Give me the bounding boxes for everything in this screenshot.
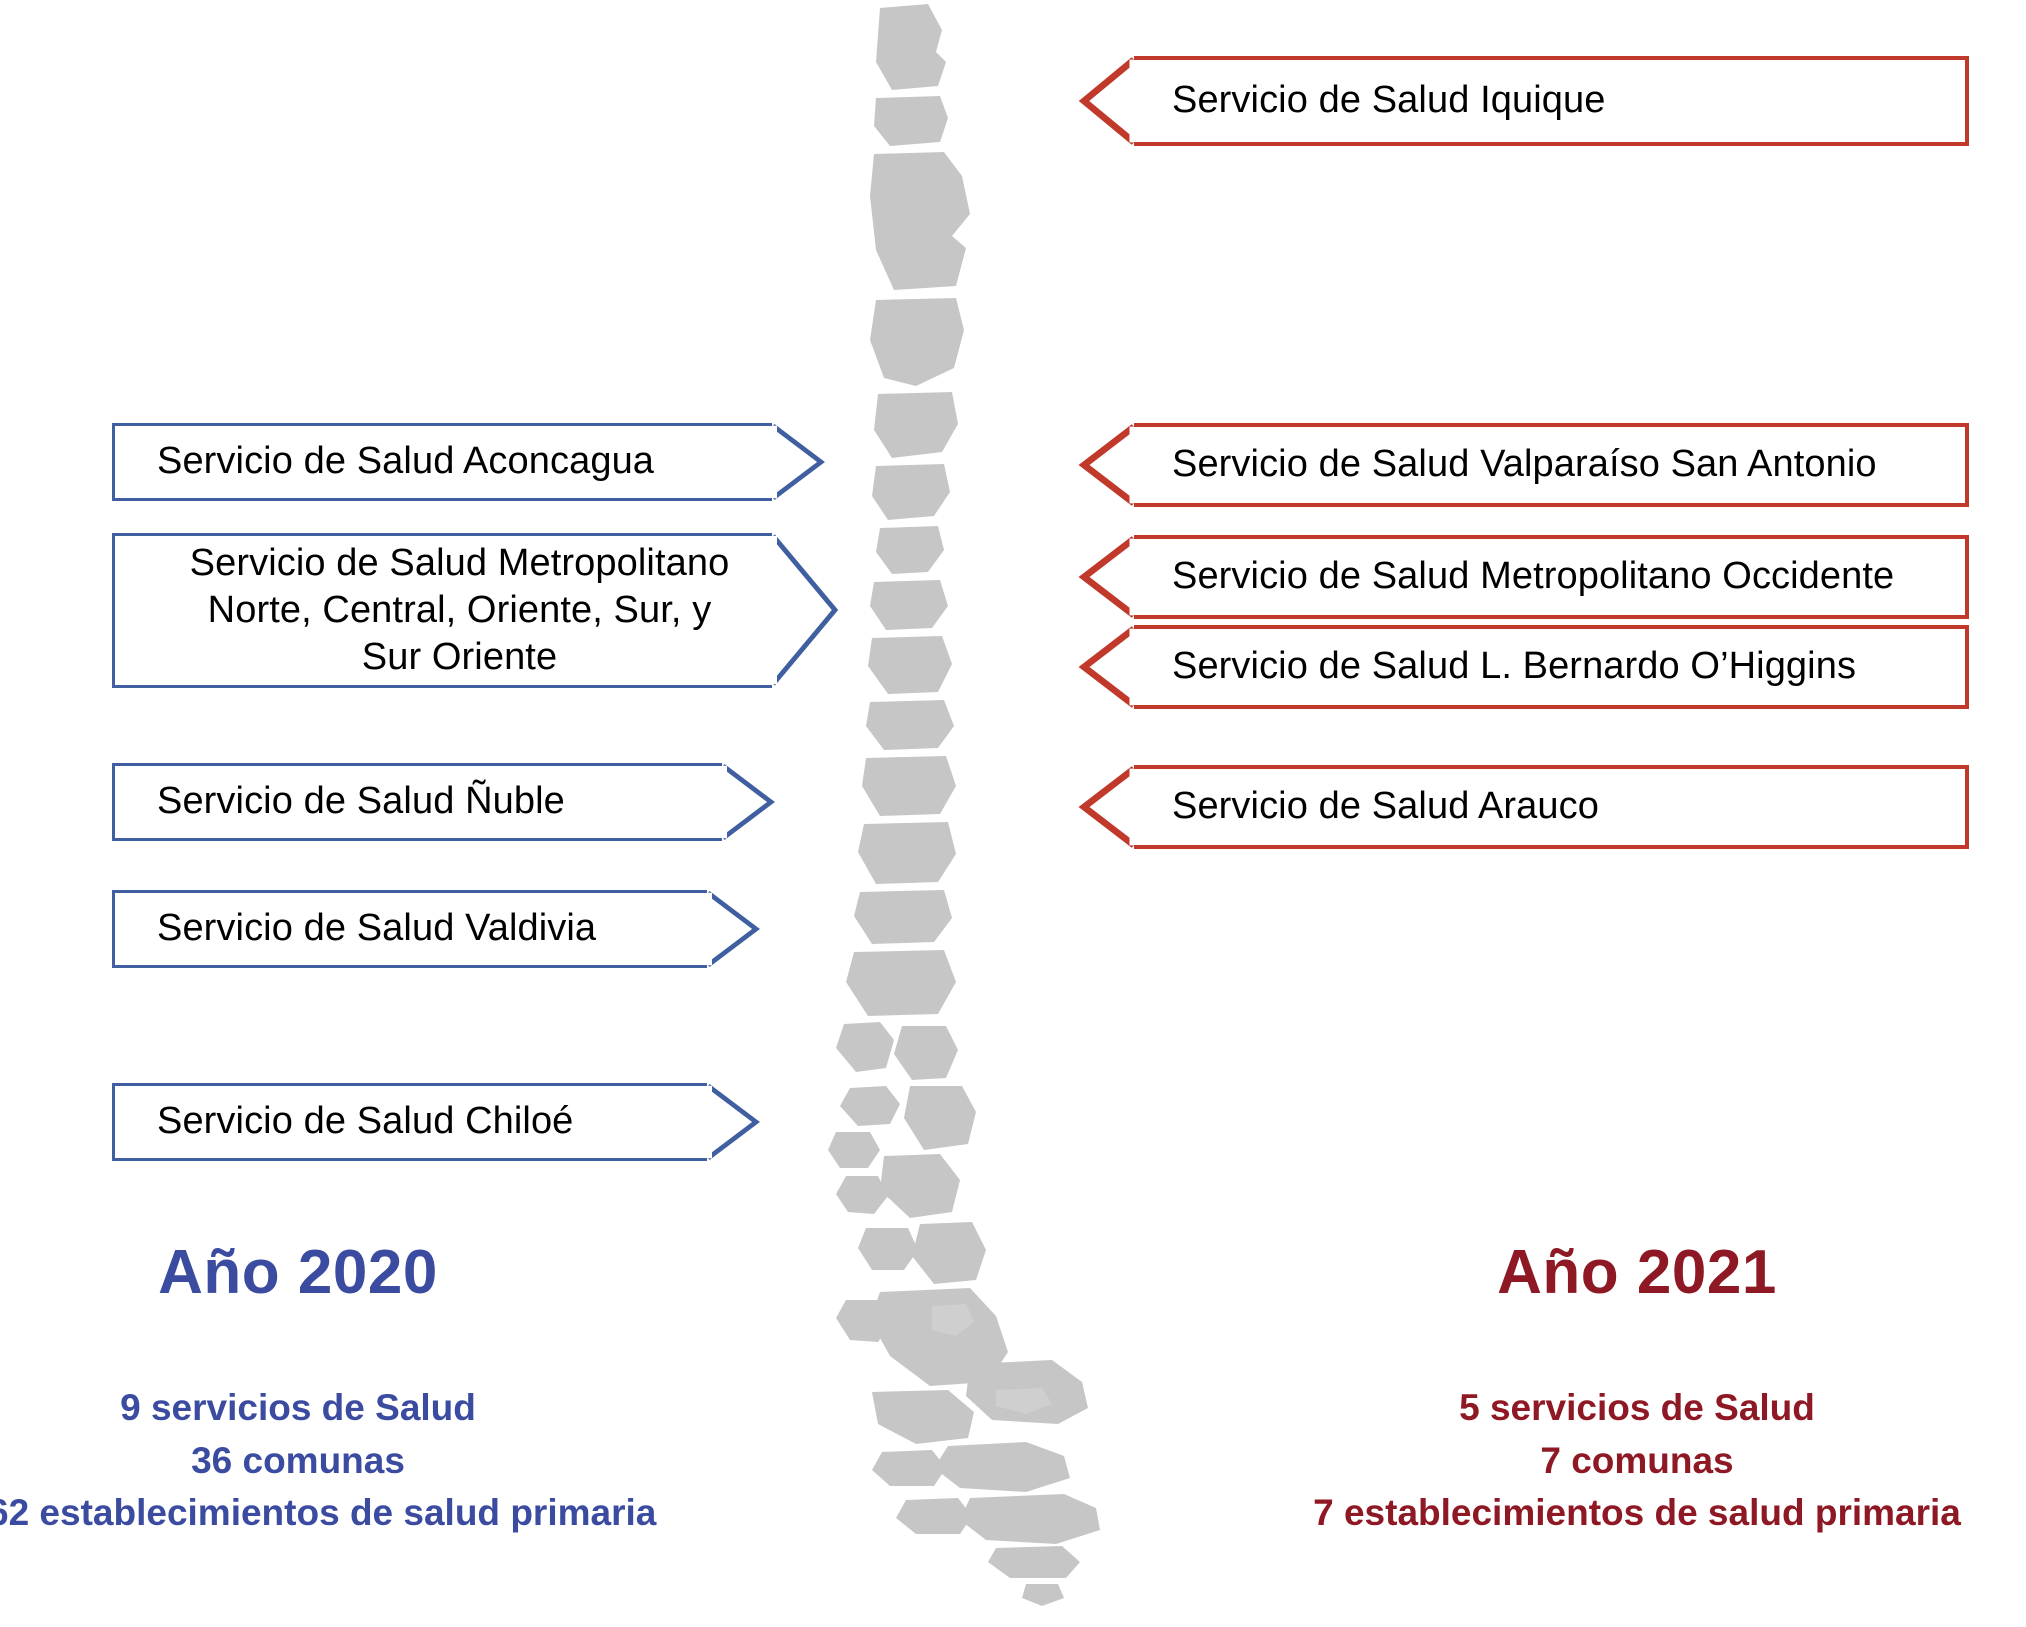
- callout-label: Servicio de Salud Iquique: [1172, 77, 1605, 124]
- summary-2020: Año 2020 9 servicios de Salud 36 comunas…: [0, 1242, 608, 1540]
- callout-label: Servicio de Salud L. Bernardo O’Higgins: [1172, 643, 1856, 690]
- stat-line: 7 comunas: [1236, 1435, 2026, 1488]
- arrow-right-tip-icon: [708, 1083, 760, 1161]
- callout-label: Servicio de Salud Ñuble: [157, 778, 565, 825]
- arrow-right-tip-icon: [723, 763, 775, 841]
- stat-line: 62 establecimientos de salud primaria: [0, 1487, 608, 1540]
- callout-label: Servicio de Salud Aconcagua: [157, 438, 654, 485]
- stat-line: 5 servicios de Salud: [1236, 1382, 2026, 1435]
- callout-label: Servicio de Salud Chiloé: [157, 1098, 573, 1145]
- callout-label: Servicio de Salud Metropolitano Norte, C…: [157, 540, 762, 681]
- callout-label: Servicio de Salud Valdivia: [157, 905, 596, 952]
- callout-2021-valparaiso-san-antonio[interactable]: Servicio de Salud Valparaíso San Antonio: [1134, 423, 1969, 507]
- callout-label: Servicio de Salud Arauco: [1172, 783, 1599, 830]
- stat-line: 7 establecimientos de salud primaria: [1236, 1487, 2026, 1540]
- summary-2021: Año 2021 5 servicios de Salud 7 comunas …: [1236, 1242, 2026, 1540]
- stat-line: 9 servicios de Salud: [0, 1382, 608, 1435]
- year-2021-stats: 5 servicios de Salud 7 comunas 7 estable…: [1236, 1382, 2026, 1540]
- callout-2020-chiloe[interactable]: Servicio de Salud Chiloé: [112, 1083, 707, 1161]
- callout-label: Servicio de Salud Metropolitano Occident…: [1172, 553, 1894, 600]
- arrow-right-tip-icon: [773, 423, 825, 501]
- callout-2021-metropolitano-occidente[interactable]: Servicio de Salud Metropolitano Occident…: [1134, 535, 1969, 619]
- year-2021-title: Año 2021: [1236, 1242, 2026, 1304]
- stat-line: 36 comunas: [0, 1435, 608, 1488]
- callout-2020-valdivia[interactable]: Servicio de Salud Valdivia: [112, 890, 707, 968]
- callout-2021-bernardo-ohiggins[interactable]: Servicio de Salud L. Bernardo O’Higgins: [1134, 625, 1969, 709]
- callout-2021-arauco[interactable]: Servicio de Salud Arauco: [1134, 765, 1969, 849]
- arrow-right-tip-icon: [708, 890, 760, 968]
- year-2020-title: Año 2020: [0, 1242, 608, 1304]
- callout-2020-metropolitano[interactable]: Servicio de Salud Metropolitano Norte, C…: [112, 533, 772, 688]
- callout-label: Servicio de Salud Valparaíso San Antonio: [1172, 441, 1877, 488]
- callout-2020-aconcagua[interactable]: Servicio de Salud Aconcagua: [112, 423, 772, 501]
- callout-2021-iquique[interactable]: Servicio de Salud Iquique: [1134, 56, 1969, 146]
- callout-2020-nuble[interactable]: Servicio de Salud Ñuble: [112, 763, 722, 841]
- year-2020-stats: 9 servicios de Salud 36 comunas 62 estab…: [0, 1382, 608, 1540]
